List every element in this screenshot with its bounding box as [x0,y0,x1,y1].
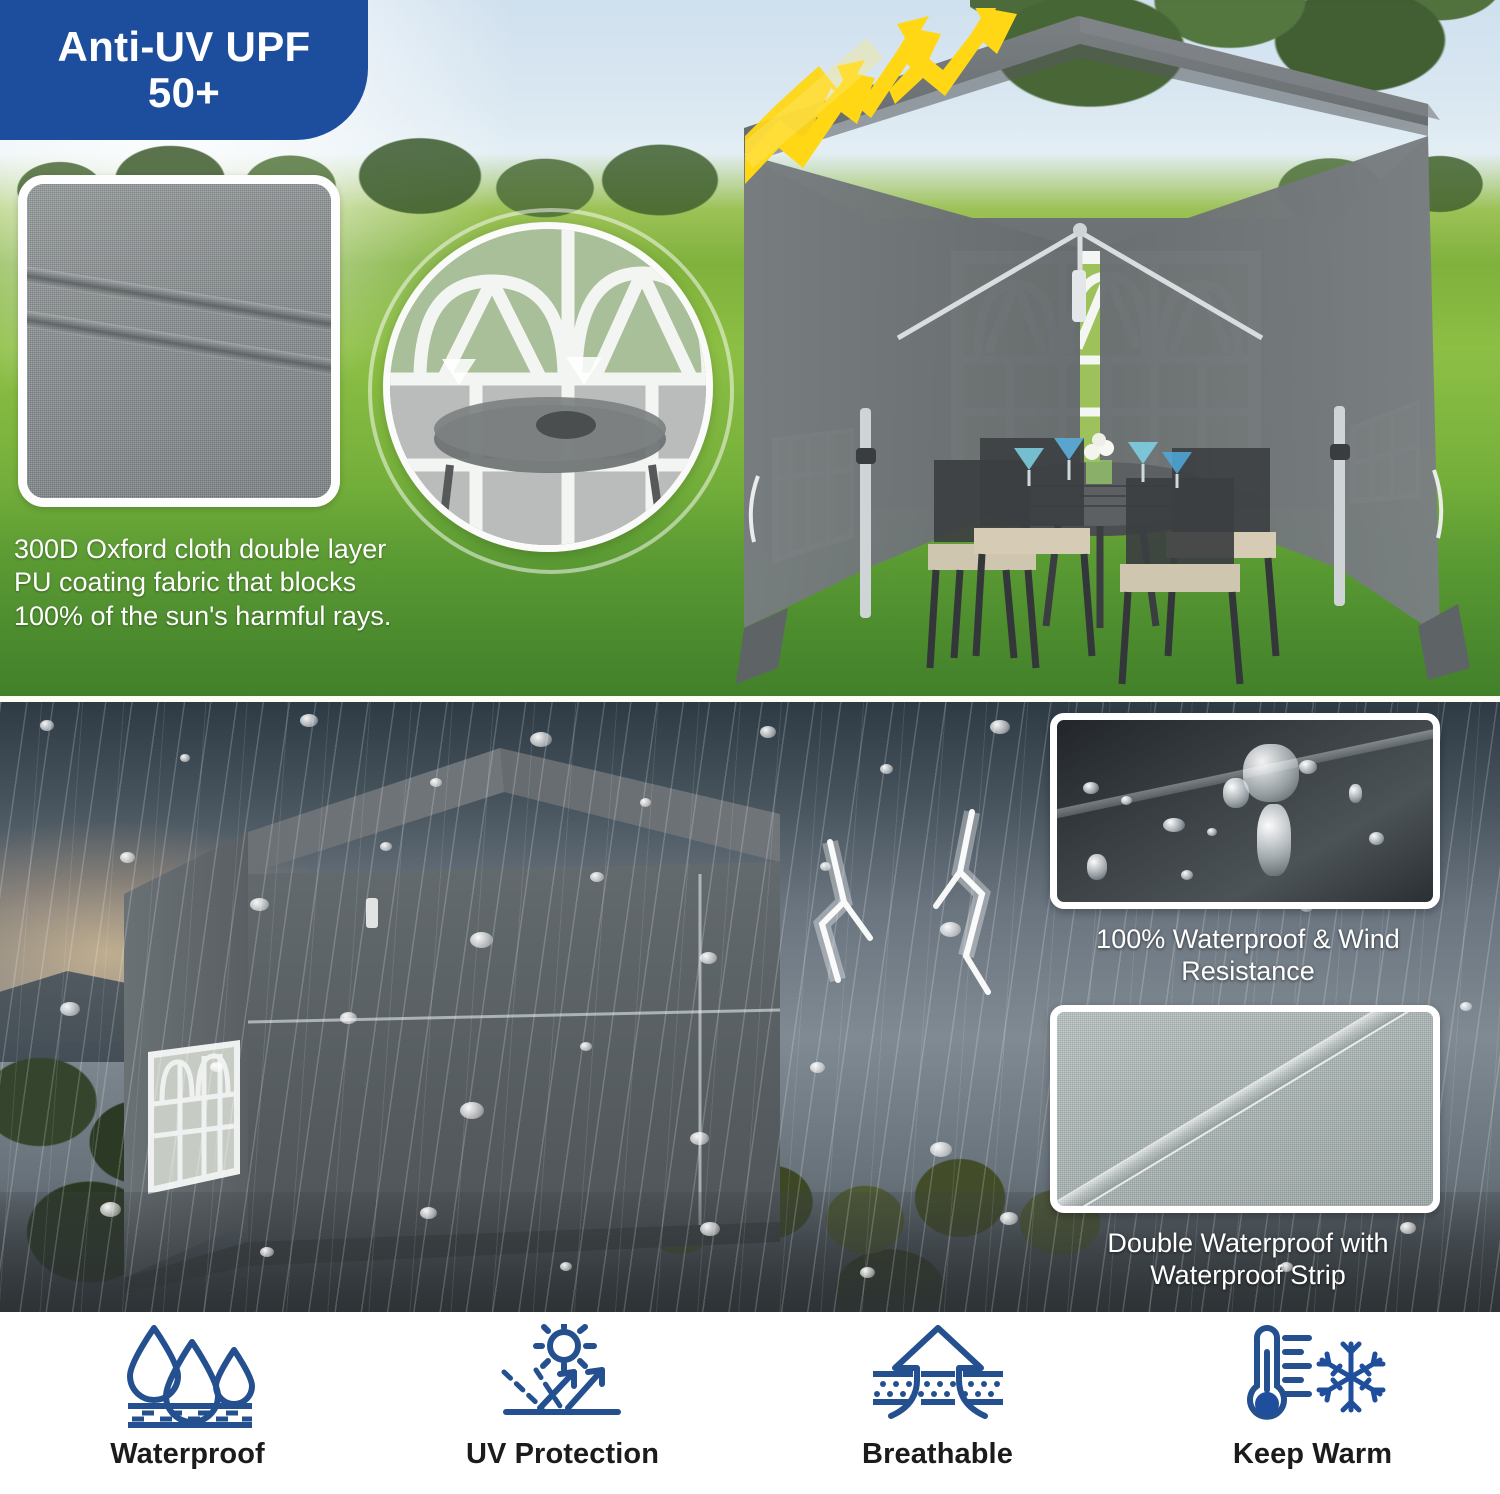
anti-uv-badge: Anti-UV UPF 50+ [0,0,368,140]
badge-line-2: 50+ [148,71,220,115]
water-bead [1299,760,1317,774]
sunny-scene-panel: 300D Oxford cloth double layer PU coatin… [0,0,1500,696]
thermometer-snowflake-icon [1233,1322,1393,1430]
fabric-caption: 300D Oxford cloth double layer PU coatin… [14,533,414,633]
panel-divider [0,696,1500,702]
feature-keep-warm: Keep Warm [1125,1312,1500,1471]
water-bead [1163,818,1185,832]
feature-waterproof: Waterproof [0,1312,375,1471]
water-bead [1121,796,1132,805]
fabric-swatch-inset [18,175,340,507]
feature-uv-protection: UV Protection [375,1312,750,1471]
waterproof-strip-inset [1050,1005,1440,1213]
waterproof-strip-caption: Double Waterproof with Waterproof Strip [1046,1228,1450,1292]
badge-line-1: Anti-UV UPF [58,25,311,69]
magnifier-window-art [390,229,713,552]
water-bead [1207,828,1217,836]
water-drops-icon [112,1322,264,1430]
water-bead [1083,782,1099,794]
water-bead [1243,744,1299,802]
water-bead [1257,804,1291,876]
water-bead [1349,784,1362,803]
product-feature-infographic: 300D Oxford cloth double layer PU coatin… [0,0,1500,1494]
uv-reflection-arrows [745,8,1045,208]
window-detail-magnifier [383,222,713,552]
water-bead [1181,870,1193,880]
feature-label: Keep Warm [1233,1438,1392,1471]
waterproof-detail-inset [1050,713,1440,909]
feature-icons-bar: Waterproof [0,1312,1500,1494]
feature-label: UV Protection [466,1438,659,1471]
water-bead [1369,832,1384,845]
lightning-icon [760,742,1080,1072]
waterproof-inset-caption: 100% Waterproof & Wind Resistance [1046,924,1450,988]
feature-breathable: Breathable [750,1312,1125,1471]
air-arrow-icon [863,1322,1013,1430]
feature-label: Breathable [862,1438,1013,1471]
feature-label: Waterproof [110,1438,265,1471]
sun-reflect-icon [488,1322,638,1430]
water-bead [1087,854,1107,880]
